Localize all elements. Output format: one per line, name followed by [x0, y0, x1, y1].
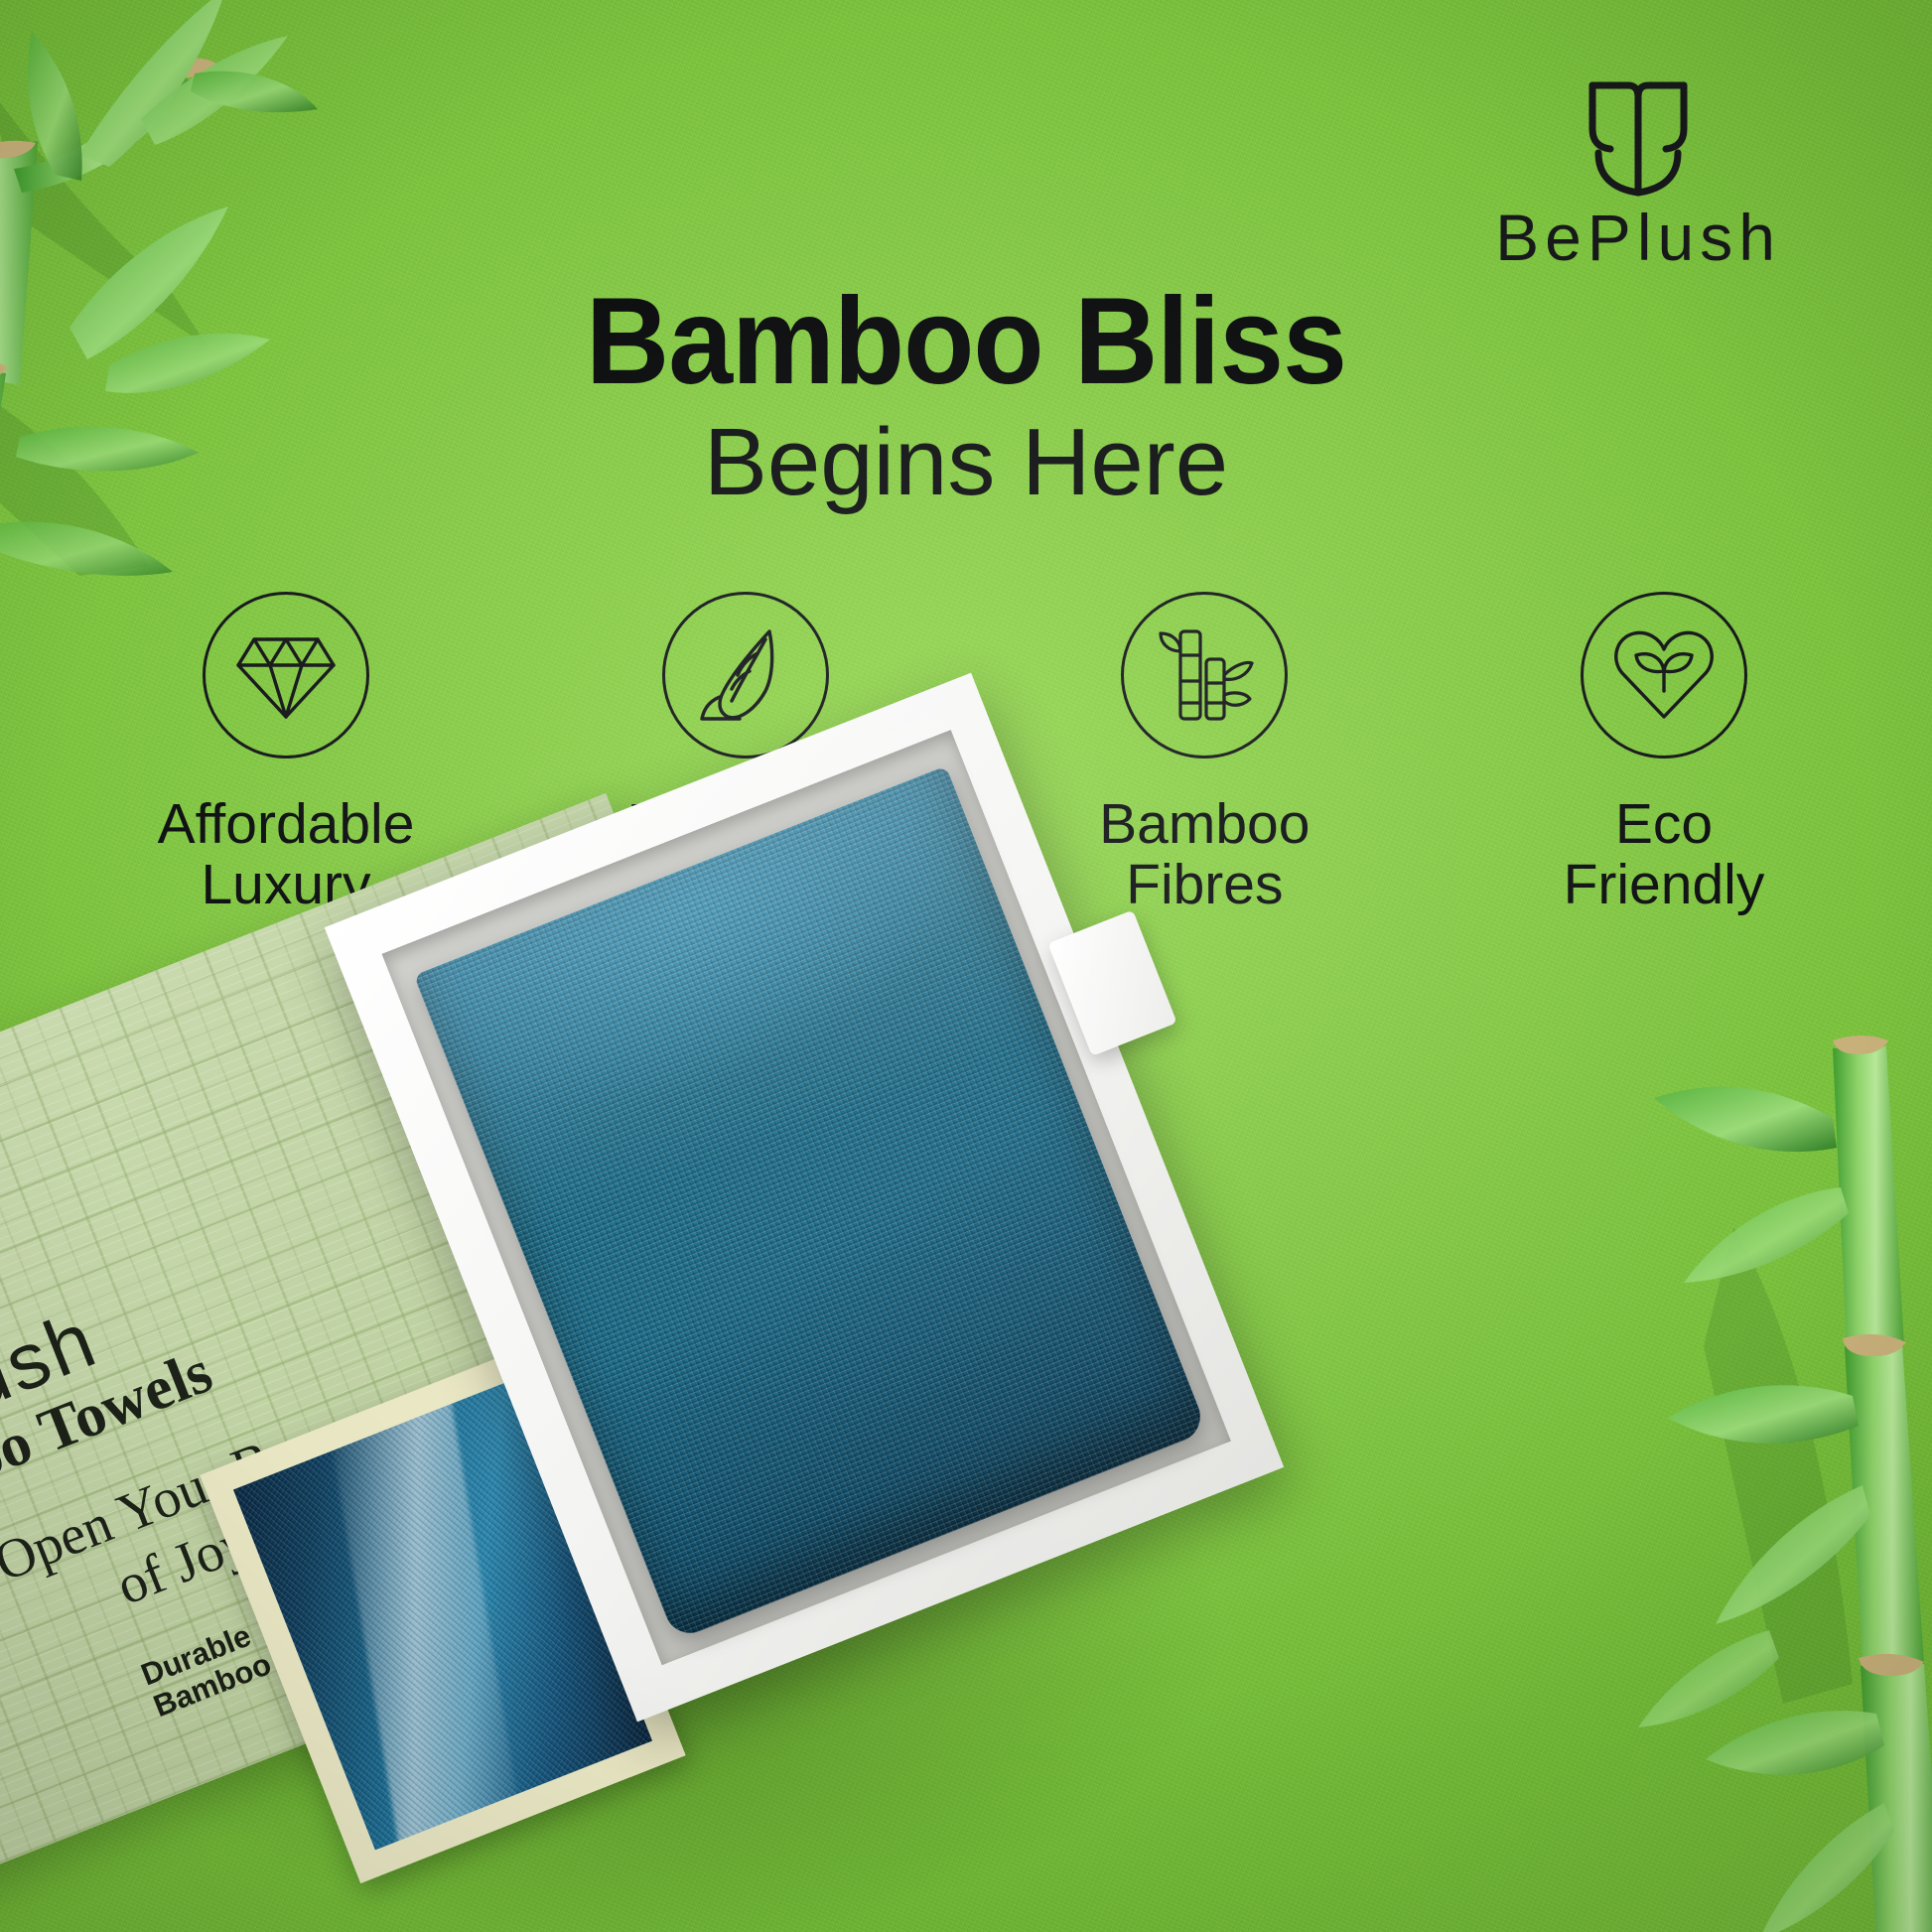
brand-logo[interactable]: BePlush — [1430, 71, 1847, 270]
beplush-tulip-mark-icon — [1583, 71, 1694, 199]
feather-icon — [696, 625, 795, 725]
poster-canvas: BePlush Bamboo Bliss Begins Here Afforda… — [0, 0, 1932, 1932]
feature-icon-ring — [1121, 592, 1288, 759]
headline-line-1: Bamboo Bliss — [58, 280, 1873, 403]
headline-block: Bamboo Bliss Begins Here — [0, 280, 1932, 513]
feature-icon-ring — [1581, 592, 1747, 759]
feature-icon-ring — [662, 592, 829, 759]
heart-leaf-icon — [1612, 627, 1716, 723]
bamboo-icon — [1155, 625, 1254, 725]
product-photo-region: BePlush Bamboo Towels Open Your Box of J… — [0, 790, 1350, 1932]
feature-label: Eco Friendly — [1564, 794, 1765, 915]
feature-icon-ring — [203, 592, 369, 759]
brand-wordmark: BePlush — [1495, 205, 1781, 270]
headline-line-2: Begins Here — [0, 413, 1932, 513]
inset-photo-sheen — [324, 1381, 529, 1851]
diamond-icon — [234, 629, 338, 721]
feature-eco-friendly[interactable]: Eco Friendly — [1515, 592, 1813, 915]
